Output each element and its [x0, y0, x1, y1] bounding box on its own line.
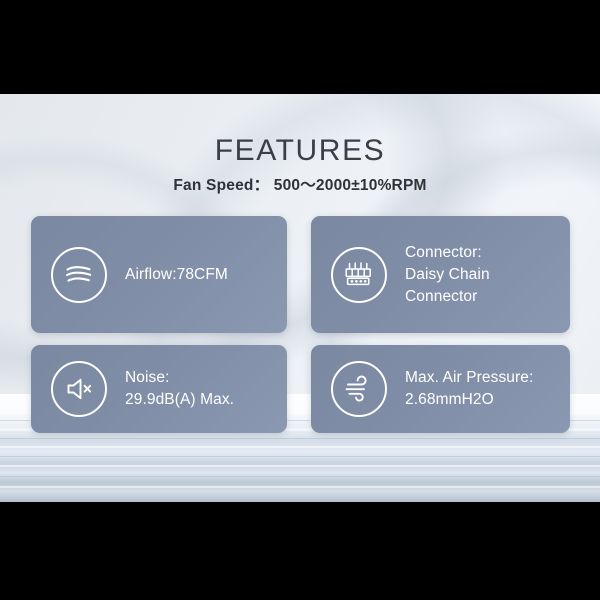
feature-line: Connector — [405, 286, 490, 308]
feature-line: Connector: — [405, 242, 490, 264]
feature-card-connector-text: Connector: Daisy Chain Connector — [405, 242, 490, 308]
feature-card-air-pressure[interactable]: Max. Air Pressure: 2.68mmH2O — [311, 345, 570, 433]
page-title: FEATURES — [0, 134, 600, 168]
feature-card-noise-text: Noise: 29.9dB(A) Max. — [125, 367, 234, 411]
feature-line: Airflow:78CFM — [125, 264, 228, 286]
noise-mute-icon — [51, 361, 107, 417]
feature-slide: FEATURES Fan Speed： 500〜2000±10%RPM Airf… — [0, 0, 600, 600]
connector-icon — [331, 247, 387, 303]
feature-line: Max. Air Pressure: — [405, 367, 533, 389]
slide-content: FEATURES Fan Speed： 500〜2000±10%RPM Airf… — [0, 94, 600, 502]
air-pressure-icon — [331, 361, 387, 417]
letterbox-bar-bottom — [0, 502, 600, 600]
feature-line: 29.9dB(A) Max. — [125, 389, 234, 411]
feature-card-airflow[interactable]: Airflow:78CFM — [31, 216, 287, 333]
feature-card-air-pressure-text: Max. Air Pressure: 2.68mmH2O — [405, 367, 533, 411]
feature-line: Daisy Chain — [405, 264, 490, 286]
feature-card-noise[interactable]: Noise: 29.9dB(A) Max. — [31, 345, 287, 433]
feature-card-airflow-text: Airflow:78CFM — [125, 264, 228, 286]
fan-speed-subtitle: Fan Speed： 500〜2000±10%RPM — [0, 173, 600, 195]
airflow-icon — [51, 247, 107, 303]
feature-line: Noise: — [125, 367, 234, 389]
feature-card-grid: Airflow:78CFM — [31, 216, 570, 433]
letterbox-bar-top — [0, 0, 600, 94]
feature-line: 2.68mmH2O — [405, 389, 533, 411]
feature-card-connector[interactable]: Connector: Daisy Chain Connector — [311, 216, 570, 333]
